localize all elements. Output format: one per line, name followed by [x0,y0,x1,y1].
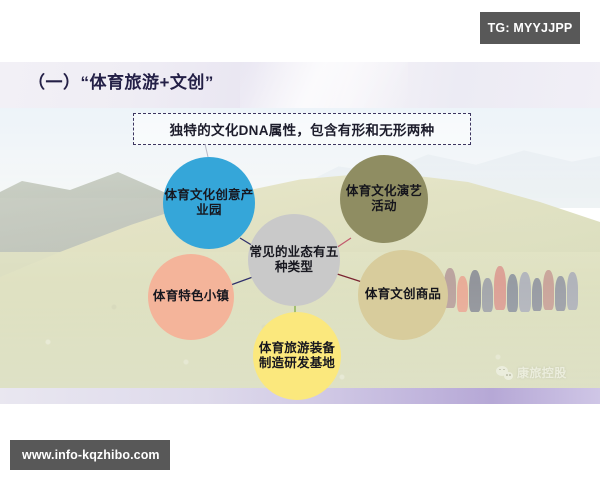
node-sports-culture-performance[interactable]: 体育文化演艺活动 [340,155,428,243]
slide-canvas: （一）“体育旅游+文创” 独特的文化DNA属性，包含有形和无形两种 体育文化创意… [0,62,600,404]
node-sports-cultural-creative-goods[interactable]: 体育文创商品 [358,250,448,340]
node-label: 体育旅游装备制造研发基地 [253,341,341,372]
node-center-five-types[interactable]: 常见的业态有五种类型 [248,214,340,306]
node-label: 体育文创商品 [365,287,441,302]
node-label: 体育特色小镇 [153,289,229,304]
node-label: 体育文化创意产业园 [163,188,255,219]
tg-watermark-badge: TG: MYYJJPP [480,12,580,44]
wechat-watermark: 康旅控股 [496,364,567,381]
node-label: 常见的业态有五种类型 [248,245,340,276]
node-sports-culture-creative-park[interactable]: 体育文化创意产业园 [163,157,255,249]
node-label: 体育文化演艺活动 [340,184,428,215]
node-sports-characteristic-town[interactable]: 体育特色小镇 [148,254,234,340]
footer-url-badge[interactable]: www.info-kqzhibo.com [10,440,170,470]
watermark-label: 康旅控股 [517,364,567,381]
footer-url-label: www.info-kqzhibo.com [10,448,160,462]
node-equipment-manufacturing-rd-base[interactable]: 体育旅游装备制造研发基地 [253,312,341,400]
wechat-icon [496,366,513,380]
tg-watermark-label: TG: MYYJJPP [488,21,573,35]
